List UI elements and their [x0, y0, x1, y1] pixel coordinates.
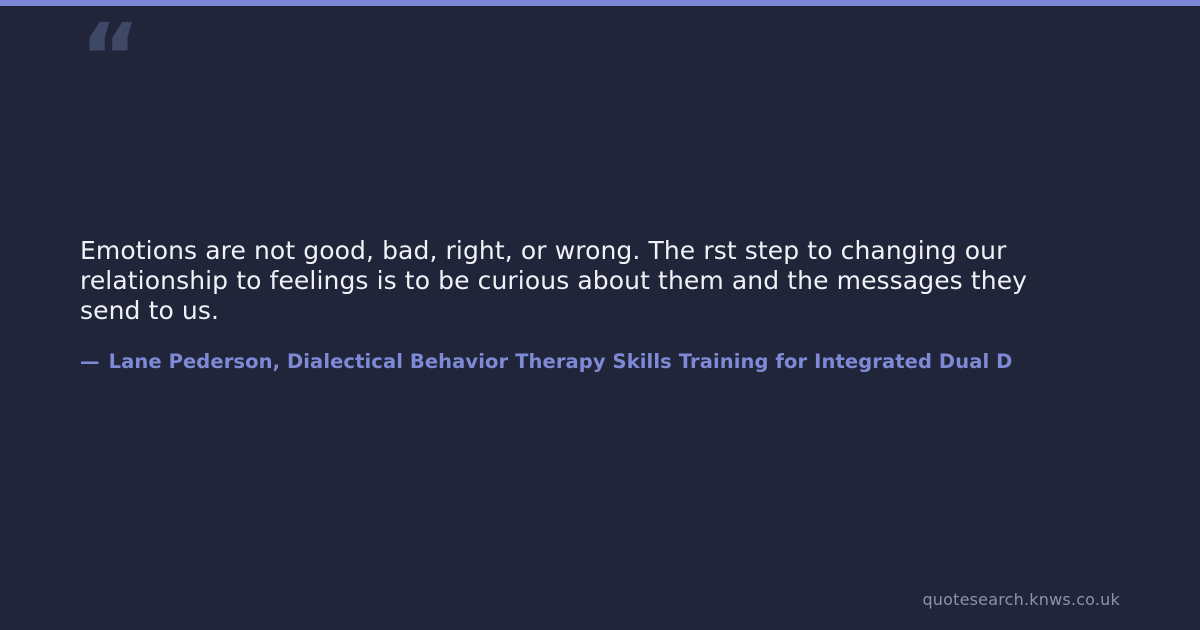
top-accent-bar	[0, 0, 1200, 6]
quote-attribution: —Lane Pederson, Dialectical Behavior The…	[80, 349, 1012, 375]
quote-card: “ Emotions are not good, bad, right, or …	[0, 0, 1200, 630]
attribution-dash: —	[80, 350, 100, 373]
quote-text: Emotions are not good, bad, right, or wr…	[80, 236, 1090, 326]
attribution-author-and-source: Lane Pederson, Dialectical Behavior Ther…	[109, 350, 1013, 373]
source-url-label: quotesearch.knws.co.uk	[922, 589, 1120, 611]
opening-quote-mark-icon: “	[80, 12, 138, 104]
